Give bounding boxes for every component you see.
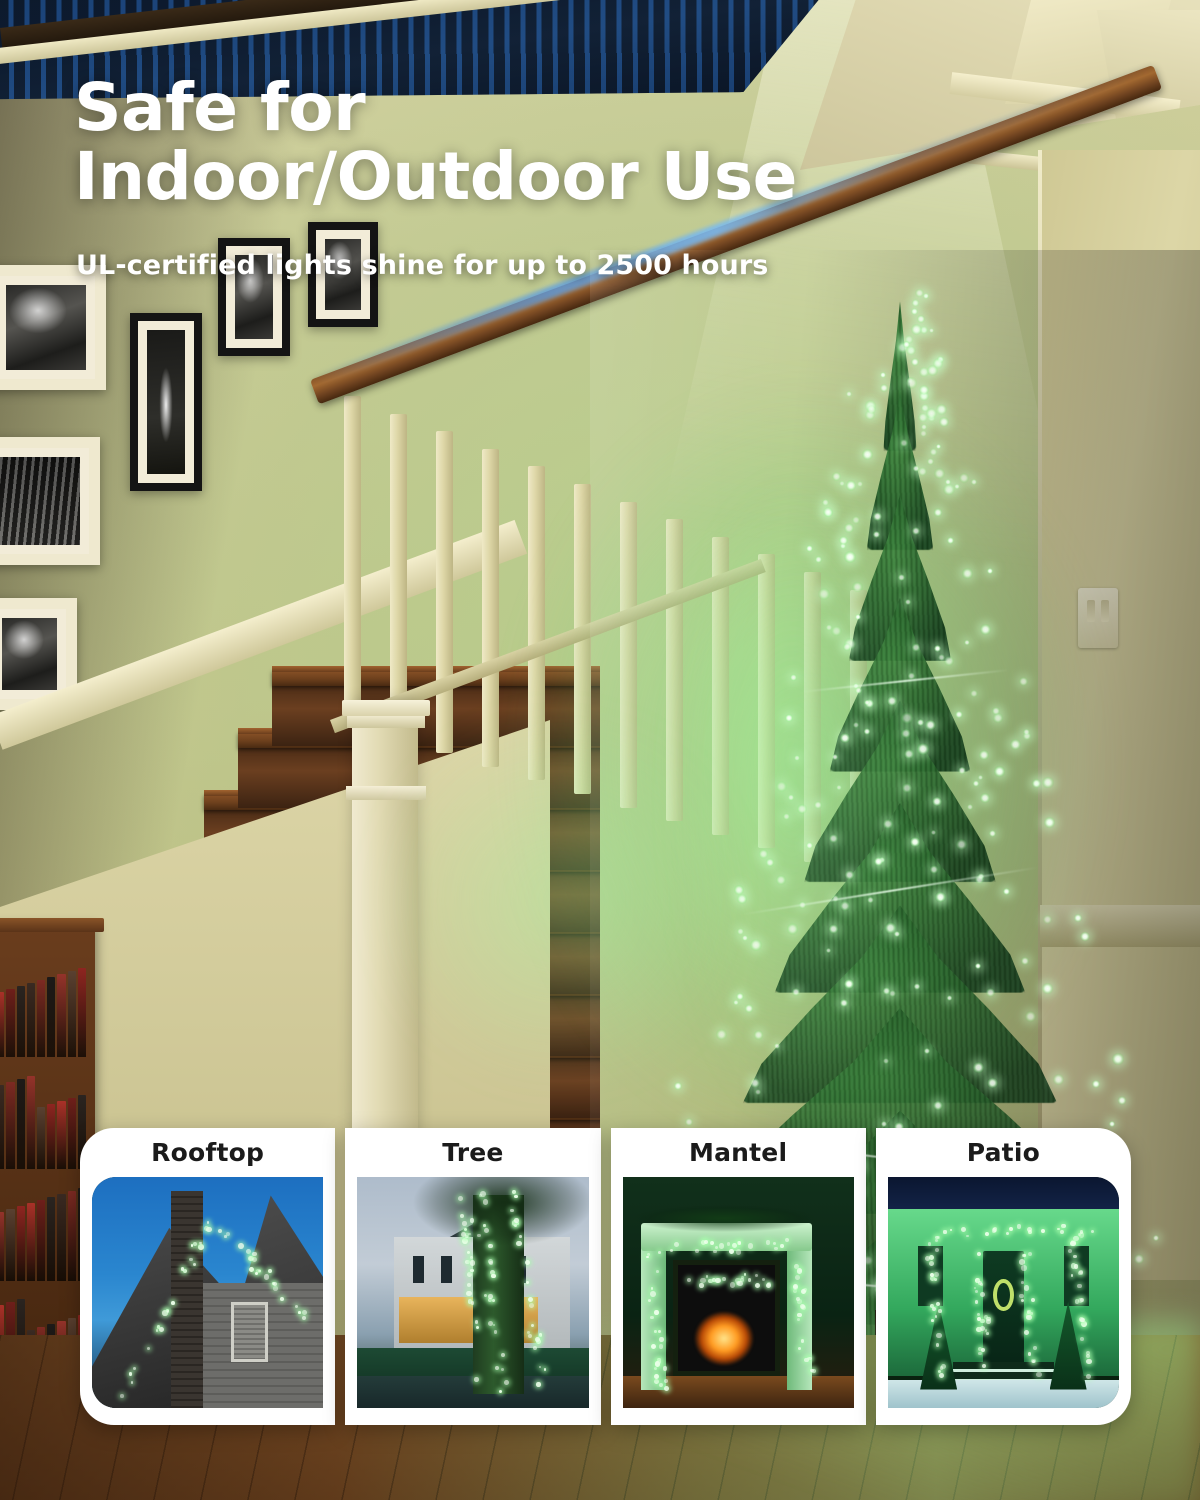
- fireplace-icon: [623, 1177, 854, 1408]
- bookshelf-top: [0, 918, 104, 932]
- card-label: Tree: [442, 1128, 503, 1177]
- outdoor-tree-icon: [357, 1177, 588, 1408]
- page-title: Safe for Indoor/Outdoor Use: [74, 74, 1054, 211]
- product-feature-image: Safe for Indoor/Outdoor Use UL-certified…: [0, 0, 1200, 1500]
- house-roof-icon: [92, 1177, 323, 1408]
- use-case-card-tree[interactable]: Tree: [345, 1128, 600, 1425]
- front-porch-icon: [888, 1177, 1119, 1408]
- card-label: Patio: [967, 1128, 1040, 1177]
- use-case-card-rooftop[interactable]: Rooftop: [80, 1128, 335, 1425]
- subtitle: UL-certified lights shine for up to 2500…: [76, 250, 896, 281]
- card-label: Rooftop: [151, 1128, 264, 1177]
- use-case-card-patio[interactable]: Patio: [876, 1128, 1131, 1425]
- use-case-card-strip: Rooftop Tree Mantel: [80, 1128, 1131, 1425]
- card-label: Mantel: [689, 1128, 787, 1177]
- use-case-card-mantel[interactable]: Mantel: [611, 1128, 866, 1425]
